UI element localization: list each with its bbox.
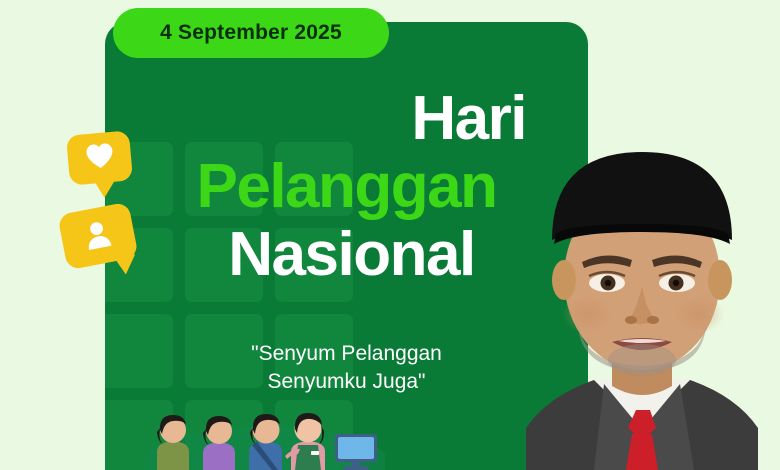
- bubble-tail: [94, 179, 117, 199]
- person-icon: [80, 216, 115, 251]
- heart-icon: [84, 142, 114, 170]
- customer-queue-illustration: [145, 404, 385, 470]
- heart-badge: [66, 130, 133, 185]
- date-badge-label: 4 September 2025: [160, 21, 342, 45]
- poster-root: 4 September 2025 Hari Pelanggan Nasional…: [0, 0, 780, 470]
- official-portrait: [508, 128, 776, 470]
- user-badge: [57, 202, 138, 271]
- date-badge: 4 September 2025: [113, 8, 389, 58]
